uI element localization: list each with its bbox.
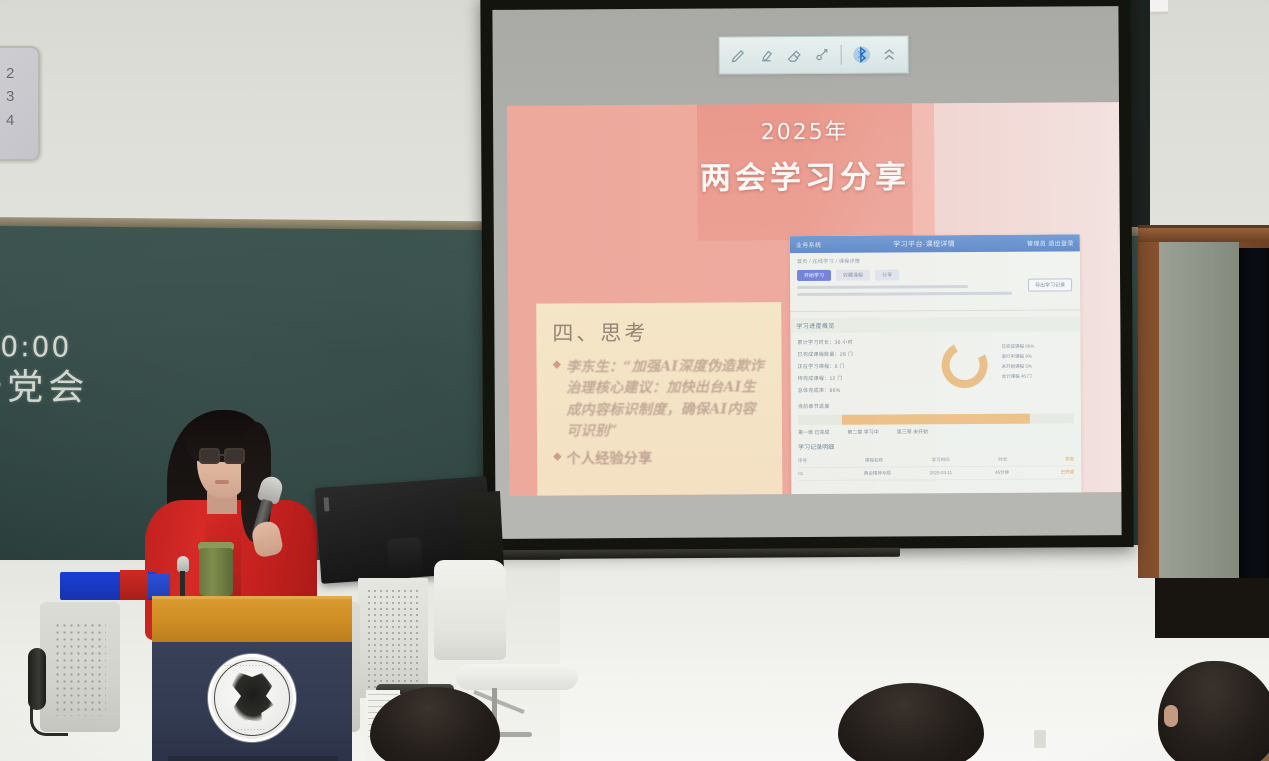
table-column-header: 课程名称 (865, 457, 918, 463)
wall-notice-line-1: 2 (6, 62, 32, 85)
bullet-text: 个人经验分享 (567, 449, 653, 471)
bullet-text: 李东生：“加强AI深度伪造欺诈治理核心建议：加快出台AI生成内容标识制度，确保A… (566, 356, 768, 442)
highlighter-icon[interactable] (753, 42, 778, 68)
presenter (145, 404, 345, 624)
slide-content-card: 四、思考 ◆ 李东生：“加强AI深度伪造欺诈治理核心建议：加快出台AI生成内容标… (536, 302, 782, 496)
audience-head (1158, 661, 1269, 761)
completion-donut-chart (936, 336, 994, 394)
app-export-button[interactable]: 导出学习记录 (1028, 278, 1072, 291)
progress-step-label: 第二章 学习中 (847, 429, 878, 436)
app-section-title: 学习进度概览 (790, 316, 1080, 333)
table-microphone-head (177, 556, 189, 572)
emblem-top-text: ···················· (208, 663, 296, 669)
app-placeholder-line (797, 292, 1012, 296)
app-stat-list: 累计学习时长：36 小时 已完成课程数量：28 门 正在学习课程：6 门 待完成… (797, 338, 935, 399)
app-secondary-button[interactable]: 收藏课程 (836, 270, 870, 281)
app-progress-area: 当前章节进度 第一章 已完成 第二章 学习中 第三章 未开始 (791, 397, 1081, 436)
door-opening (1239, 248, 1269, 578)
table-cell: 两会精神专题 (864, 470, 916, 476)
eraser-icon[interactable] (781, 42, 806, 68)
table-title: 学习记录明细 (798, 440, 1074, 451)
lectern: ···················· ········· (40, 596, 360, 761)
lectern-wood-top (152, 596, 352, 644)
app-stats-area: 累计学习时长：36 小时 已完成课程数量：28 门 正在学习课程：6 门 待完成… (790, 331, 1080, 399)
app-body: 首页 / 在线学习 / 课程详情 开始学习 收藏课程 分享 导出学习记录 (790, 251, 1080, 305)
card-heading: 四、思考 (552, 316, 767, 347)
app-stat: 已完成课程数量：28 门 (797, 350, 935, 358)
expand-collapse-icon[interactable] (877, 41, 902, 67)
green-thermos-cup (199, 548, 233, 596)
wall-telephone[interactable] (28, 648, 46, 710)
projection-screen-frame: 2025年 两会学习分享 四、思考 ◆ 李东生：“加强AI深度伪造欺诈治理核心建… (480, 0, 1133, 551)
table-cell: 45分钟 (995, 470, 1047, 476)
presentation-toolbar[interactable] (719, 35, 909, 74)
slide-title-main: 两会学习分享 (697, 151, 912, 197)
app-header-right: 管理员 退出登录 (1027, 238, 1074, 247)
table-column-header: 学习时间 (932, 457, 985, 463)
app-stat: 待完成课程：12 门 (798, 374, 936, 382)
table-column-header: 时长 (998, 457, 1051, 463)
speaker-grille (54, 622, 106, 716)
door-panel[interactable] (1159, 242, 1239, 578)
table-cell-status: 已完成 (1061, 469, 1075, 475)
slide-canvas: 2025年 两会学习分享 四、思考 ◆ 李东生：“加强AI深度伪造欺诈治理核心建… (507, 102, 1121, 496)
speaker-grille (366, 588, 420, 694)
app-placeholder-line (797, 285, 968, 289)
ear (1164, 705, 1178, 727)
slide-title-year: 2025年 (697, 113, 912, 146)
mouth (215, 480, 229, 484)
wall-notice-line-3: 4 (6, 109, 32, 132)
table-column-header: 序号 (798, 458, 851, 464)
donut-legend-item: 未开始课程 5% (1002, 363, 1074, 369)
donut-legend-item: 已完成课程 86% (1001, 343, 1073, 349)
table-cell: 2025-03-11 (929, 470, 981, 476)
app-stat: 正在学习课程：6 门 (798, 362, 936, 370)
chair-backrest (434, 560, 506, 660)
toolbar-separator (841, 45, 842, 65)
emblem-bottom-text: ········· (208, 727, 296, 733)
progress-step-label: 第三章 未开始 (897, 428, 928, 435)
app-stat: 累计学习时长：36 小时 (797, 338, 935, 346)
university-emblem: ···················· ········· (208, 654, 296, 742)
app-primary-button[interactable]: 开始学习 (797, 270, 831, 281)
app-header-center: 学习平台·课程详情 (829, 238, 1019, 249)
telephone-cord (30, 706, 68, 736)
bullet-item: ◆ 个人经验分享 (553, 448, 768, 471)
wall-notice-board: 2 3 4 (0, 46, 40, 161)
donut-legend: 已完成课程 86% 进行中课程 9% 未开始课程 5% 合计课程 46 门 (1001, 337, 1073, 397)
bluetooth-icon[interactable] (849, 42, 874, 68)
table-microphone (176, 556, 190, 598)
embedded-app-screenshot: 业务系统 学习平台·课程详情 管理员 退出登录 首页 / 在线学习 / 课程详情… (790, 234, 1082, 495)
monitor-stand-arm (387, 537, 424, 579)
app-stat: 总体完成率：86% (798, 386, 936, 394)
bullet-marker-icon: ◆ (553, 358, 562, 443)
blackboard-meeting-text: 于党会 (0, 358, 89, 411)
table-cell: 01 (798, 471, 850, 477)
progress-track (798, 413, 1074, 425)
progress-fill (842, 414, 1030, 425)
app-divider (790, 309, 1080, 312)
progress-label: 当前章节进度 (798, 401, 1074, 410)
app-header-bar: 业务系统 学习平台·课程详情 管理员 退出登录 (790, 234, 1080, 253)
app-records-table: 学习记录明细 序号 课程名称 学习时间 时长 状态 01 两会精神专题 2025… (791, 434, 1081, 481)
door-frame-header (1138, 228, 1269, 242)
table-microphone-stem (180, 571, 185, 598)
glasses-right-lens (224, 448, 245, 464)
glasses-bridge (220, 454, 226, 456)
donut-legend-item: 进行中课程 9% (1002, 353, 1074, 359)
blackboard-time-text: 20:00 (0, 330, 71, 364)
lectern-base (168, 756, 338, 761)
projection-screen-surface: 2025年 两会学习分享 四、思考 ◆ 李东生：“加强AI深度伪造欺诈治理核心建… (492, 6, 1121, 539)
door-lower-shadow (1155, 578, 1269, 638)
progress-step-label: 第一章 已完成 (798, 429, 829, 436)
bullet-item: ◆ 李东生：“加强AI深度伪造欺诈治理核心建议：加快出台AI生成内容标识制度，确… (553, 356, 769, 442)
laser-pointer-icon[interactable] (809, 42, 834, 68)
monitor-brand-badge (324, 497, 330, 511)
app-tertiary-button[interactable]: 分享 (875, 269, 899, 280)
pen-icon[interactable] (726, 42, 751, 68)
bullet-marker-icon: ◆ (553, 450, 562, 471)
secondary-display-edge (460, 491, 504, 571)
app-breadcrumb: 首页 / 在线学习 / 课程详情 (797, 256, 1073, 265)
glasses-left-lens (199, 448, 220, 464)
app-header-left: 业务系统 (796, 240, 822, 249)
classroom-photo-scene: 2 3 4 20:00 于党会 (0, 0, 1269, 761)
wall-notice-line-2: 3 (6, 85, 32, 108)
white-speaker-cabinet (358, 578, 428, 698)
table-column-header: 状态 (1065, 456, 1074, 462)
donut-legend-item: 合计课程 46 门 (1002, 373, 1074, 379)
table-row: 01 两会精神专题 2025-03-11 45分钟 已完成 (798, 466, 1074, 481)
glasses-icon (197, 448, 251, 465)
slide-title: 2025年 两会学习分享 (697, 113, 913, 197)
chair-seat (456, 664, 578, 690)
wall-small-fixture (1034, 730, 1046, 748)
